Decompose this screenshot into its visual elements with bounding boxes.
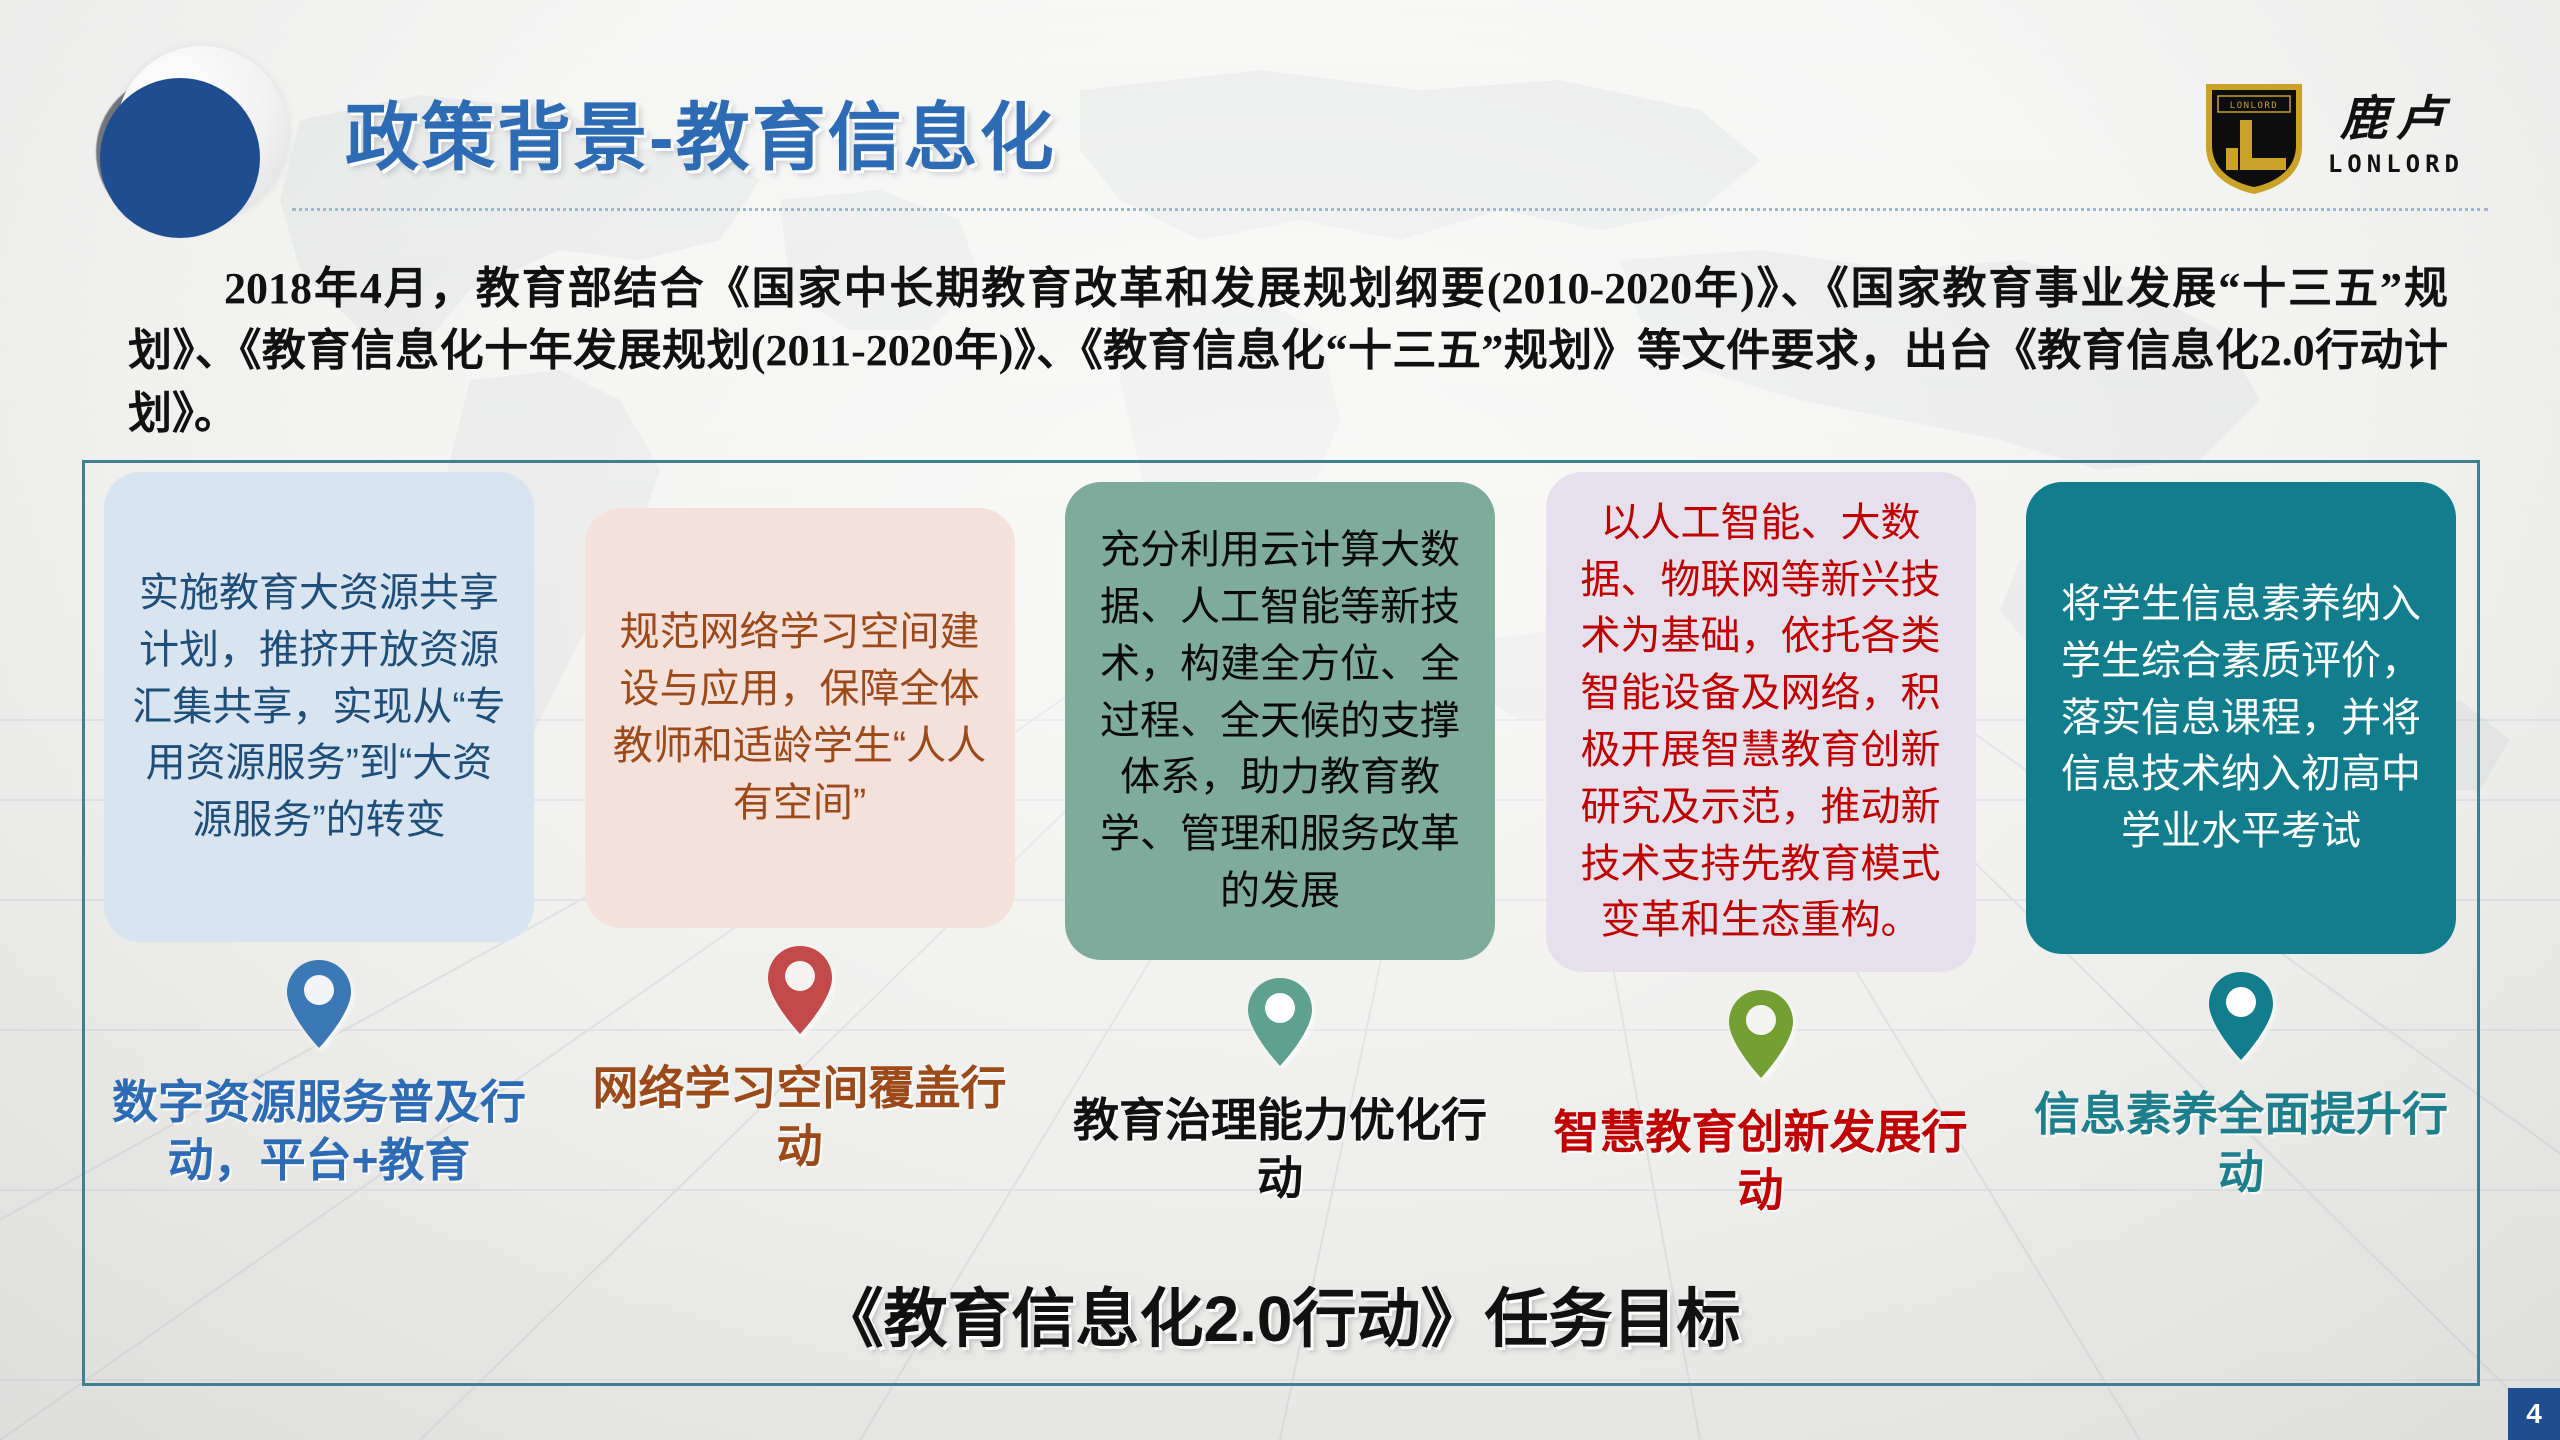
page-number-badge: 4 [2508, 1388, 2560, 1440]
action-label-2: 网络学习空间覆盖行动 [585, 1060, 1015, 1176]
svg-text:LONLORD: LONLORD [2230, 101, 2278, 111]
brand-logo: LONLORD 鹿卢 LONLORD [2202, 76, 2464, 196]
slide-canvas: 政策背景-教育信息化 LONLORD 鹿卢 LONLORD 2018年4月，教育… [0, 0, 2560, 1440]
action-label-1: 数字资源服务普及行动，平台+教育 [104, 1074, 534, 1190]
map-pin-icon-4 [1724, 986, 1798, 1082]
action-column-3: 充分利用云计算大数据、人工智能等新技术，构建全方位、全过程、全天候的支撑体系，助… [1065, 472, 1495, 1208]
page-title: 政策背景-教育信息化 [345, 78, 1056, 185]
action-label-5: 信息素养全面提升行动 [2026, 1086, 2456, 1202]
map-pin-icon-3 [1243, 974, 1317, 1070]
panel-caption: 《教育信息化2.0行动》任务目标 [0, 1268, 2560, 1360]
action-label-4: 智慧教育创新发展行动 [1546, 1104, 1976, 1220]
header-dot-icon [100, 78, 260, 238]
action-column-5: 将学生信息素养纳入学生综合素质评价，落实信息课程，并将信息技术纳入初高中学业水平… [2026, 472, 2456, 1202]
action-card-1: 实施教育大资源共享计划，推挤开放资源汇集共享，实现从“专用资源服务”到“大资源服… [104, 472, 534, 942]
shield-logo-icon: LONLORD [2202, 76, 2306, 196]
map-pin-icon-5 [2204, 968, 2278, 1064]
action-label-3: 教育治理能力优化行动 [1065, 1092, 1495, 1208]
brand-name-en: LONLORD [2328, 152, 2464, 176]
action-column-4: 以人工智能、大数据、物联网等新兴技术为基础，依托各类智能设备及网络，积极开展智慧… [1546, 472, 1976, 1220]
action-card-5: 将学生信息素养纳入学生综合素质评价，落实信息课程，并将信息技术纳入初高中学业水平… [2026, 482, 2456, 954]
title-divider [292, 208, 2488, 211]
map-pin-icon-1 [282, 956, 356, 1052]
intro-paragraph: 2018年4月，教育部结合《国家中长期教育改革和发展规划纲要(2010-2020… [128, 258, 2448, 445]
action-cards-row: 实施教育大资源共享计划，推挤开放资源汇集共享，实现从“专用资源服务”到“大资源服… [104, 472, 2456, 1032]
action-column-2: 规范网络学习空间建设与应用，保障全体教师和适龄学生“人人有空间” 网络学习空间覆… [585, 472, 1015, 1176]
brand-name-cn: 鹿卢 [2340, 96, 2452, 144]
action-card-2: 规范网络学习空间建设与应用，保障全体教师和适龄学生“人人有空间” [585, 508, 1015, 928]
action-column-1: 实施教育大资源共享计划，推挤开放资源汇集共享，实现从“专用资源服务”到“大资源服… [104, 472, 534, 1190]
action-card-4: 以人工智能、大数据、物联网等新兴技术为基础，依托各类智能设备及网络，积极开展智慧… [1546, 472, 1976, 972]
map-pin-icon-2 [763, 942, 837, 1038]
action-card-3: 充分利用云计算大数据、人工智能等新技术，构建全方位、全过程、全天候的支撑体系，助… [1065, 482, 1495, 960]
